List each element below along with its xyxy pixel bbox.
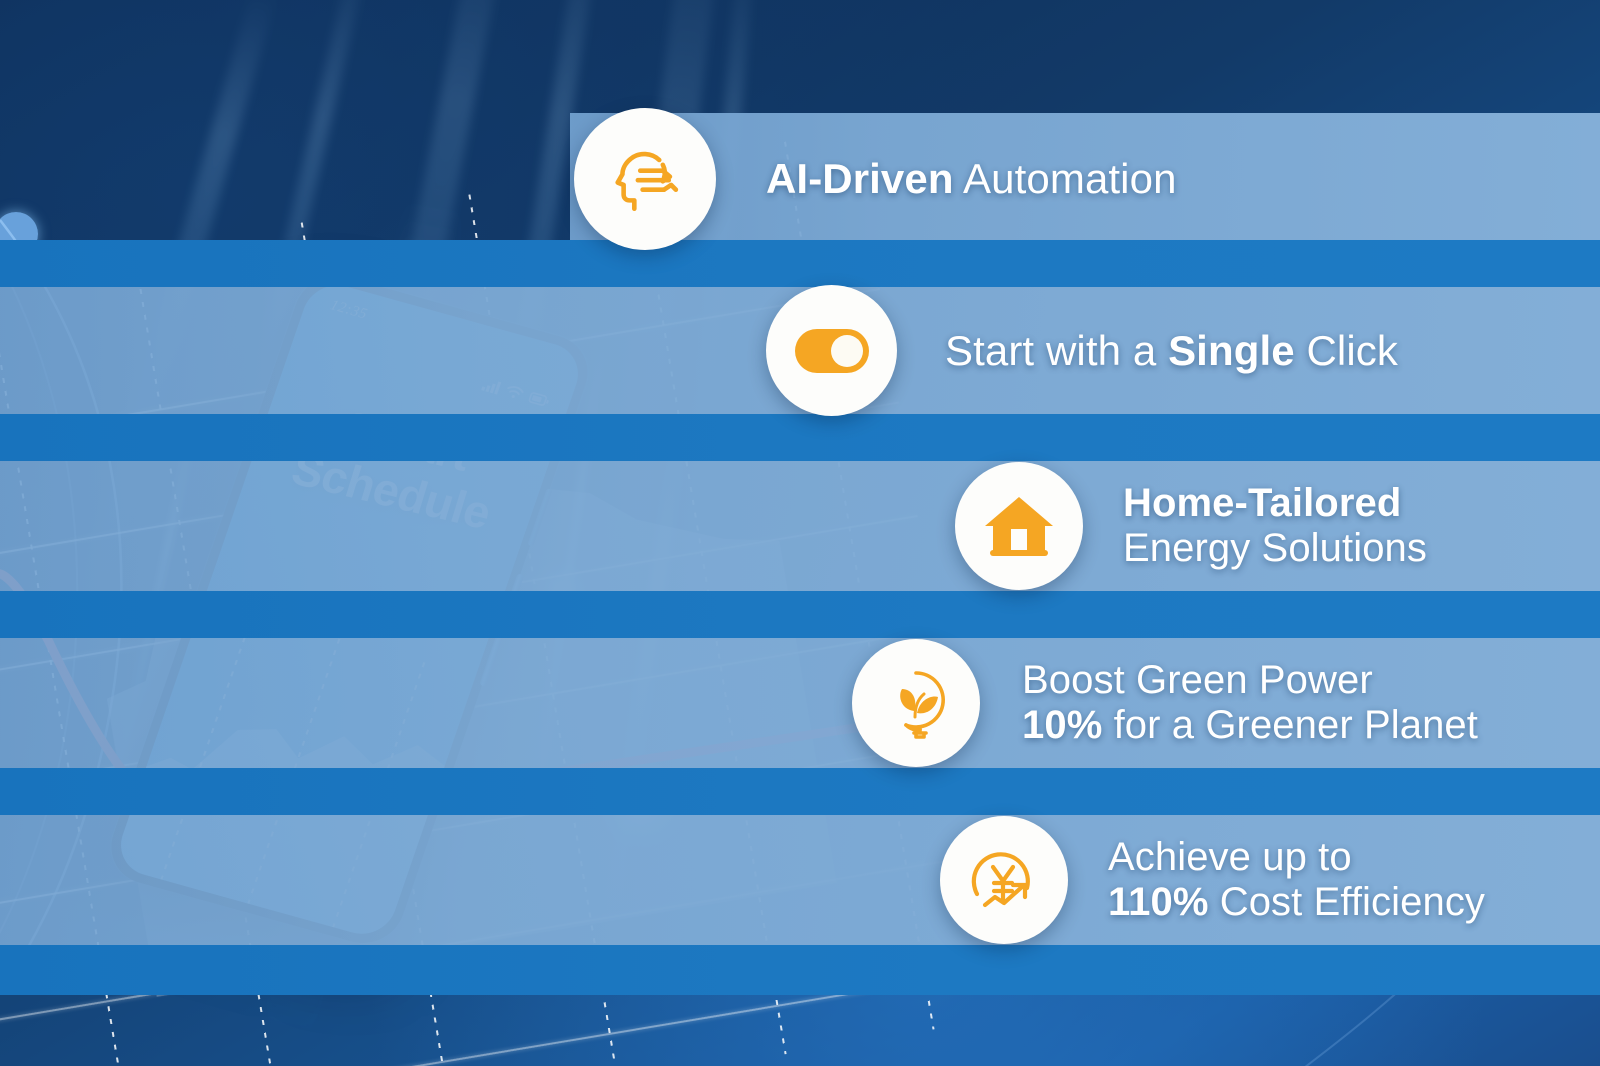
battery-icon bbox=[527, 391, 551, 409]
yen-growth-icon bbox=[967, 844, 1041, 916]
feature-label: Achieve up to 110% Cost Efficiency bbox=[1108, 835, 1485, 925]
ai-head-icon bbox=[607, 141, 683, 217]
leaf-plug-icon bbox=[880, 667, 952, 739]
feature-icon-badge bbox=[955, 462, 1083, 590]
home-icon bbox=[982, 493, 1056, 559]
promo-graphic: 12:35 bbox=[0, 0, 1600, 1066]
feature-label-normal-2: for a Greener Planet bbox=[1102, 703, 1478, 747]
feature-label: Home-Tailored Energy Solutions bbox=[1123, 481, 1427, 571]
feature-label-normal: Automation bbox=[954, 155, 1177, 202]
feature-icon-badge bbox=[940, 816, 1068, 944]
signal-bars-icon bbox=[481, 377, 502, 395]
feature-row-single-click[interactable]: Start with a Single Click bbox=[766, 285, 1398, 416]
feature-row-boost-green-power[interactable]: Boost Green Power 10% for a Greener Plan… bbox=[852, 639, 1478, 767]
feature-label-normal-2: Energy Solutions bbox=[1123, 526, 1427, 570]
feature-label-normal-2: Cost Efficiency bbox=[1209, 880, 1486, 924]
wifi-icon bbox=[504, 383, 525, 401]
status-bar-icons bbox=[481, 377, 551, 408]
feature-label-normal: Start with a bbox=[945, 327, 1168, 374]
feature-row-cost-efficiency[interactable]: Achieve up to 110% Cost Efficiency bbox=[940, 816, 1485, 944]
feature-row-ai-driven-automation[interactable]: AI-Driven Automation bbox=[574, 108, 1177, 250]
feature-label-bold: 110% bbox=[1108, 880, 1209, 924]
feature-label: AI-Driven Automation bbox=[766, 155, 1177, 202]
feature-row-home-tailored-energy[interactable]: Home-Tailored Energy Solutions bbox=[955, 462, 1427, 590]
feature-label: Boost Green Power 10% for a Greener Plan… bbox=[1022, 658, 1478, 748]
phone-screen-title: Smart Schedule bbox=[246, 384, 551, 548]
feature-label-normal: Achieve up to bbox=[1108, 835, 1352, 879]
toggle-on-icon[interactable] bbox=[793, 327, 871, 375]
feature-label: Start with a Single Click bbox=[945, 327, 1398, 374]
feature-icon-badge bbox=[766, 285, 897, 416]
status-bar-time: 12:35 bbox=[328, 297, 370, 323]
feature-icon-badge bbox=[574, 108, 716, 250]
feature-label-normal-2: Click bbox=[1295, 327, 1398, 374]
feature-label-bold: AI-Driven bbox=[766, 155, 954, 202]
feature-label-bold: 10% bbox=[1022, 703, 1102, 747]
feature-label-bold: Home-Tailored bbox=[1123, 481, 1401, 525]
feature-label-bold: Single bbox=[1168, 327, 1295, 374]
feature-label-normal: Boost Green Power bbox=[1022, 658, 1373, 702]
decorative-arcs-right bbox=[1240, 526, 1600, 1066]
feature-icon-badge bbox=[852, 639, 980, 767]
